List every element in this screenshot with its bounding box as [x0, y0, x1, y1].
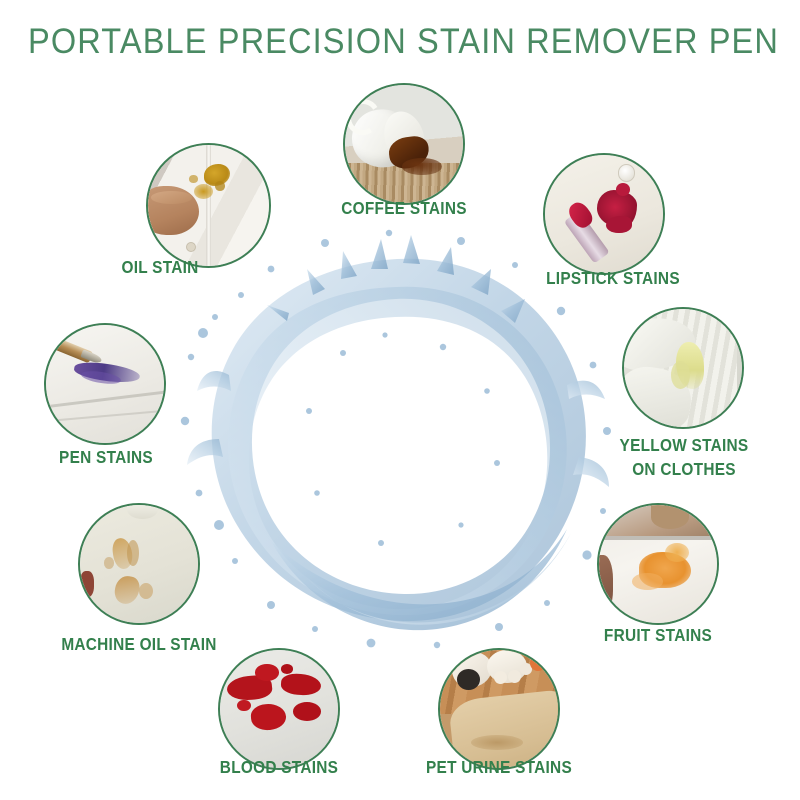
pen-stains-label: PEN STAINS — [39, 447, 173, 469]
pet-urine-stains-label: PET URINE STAINS — [423, 757, 574, 779]
machine-oil-stain-photo[interactable] — [78, 503, 200, 625]
blood-stains-photo[interactable] — [218, 648, 340, 770]
yellow-stains-label-line1: YELLOW STAINS — [608, 435, 759, 457]
page-title: PORTABLE PRECISION STAIN REMOVER PEN — [28, 22, 772, 62]
oil-stain-photo[interactable] — [146, 143, 271, 268]
coffee-stains-photo[interactable] — [343, 83, 465, 205]
lipstick-stains-label: LIPSTICK STAINS — [538, 268, 688, 290]
machine-oil-stain-label: MACHINE OIL STAIN — [47, 634, 230, 656]
coffee-stains-label: COFFEE STAINS — [337, 198, 471, 220]
yellow-stains-label-line2: ON CLOTHES — [608, 459, 759, 481]
yellow-stains-photo[interactable] — [622, 307, 744, 429]
blood-stains-label: BLOOD STAINS — [212, 757, 346, 779]
lipstick-stains-photo[interactable] — [543, 153, 665, 275]
infographic-canvas: PORTABLE PRECISION STAIN REMOVER PEN — [0, 0, 800, 800]
fruit-stains-photo[interactable] — [597, 503, 719, 625]
oil-stain-label: OIL STAIN — [93, 257, 227, 279]
fruit-stains-label: FRUIT STAINS — [591, 625, 725, 647]
pen-stains-photo[interactable] — [44, 323, 166, 445]
pet-urine-stains-photo[interactable] — [438, 648, 560, 770]
